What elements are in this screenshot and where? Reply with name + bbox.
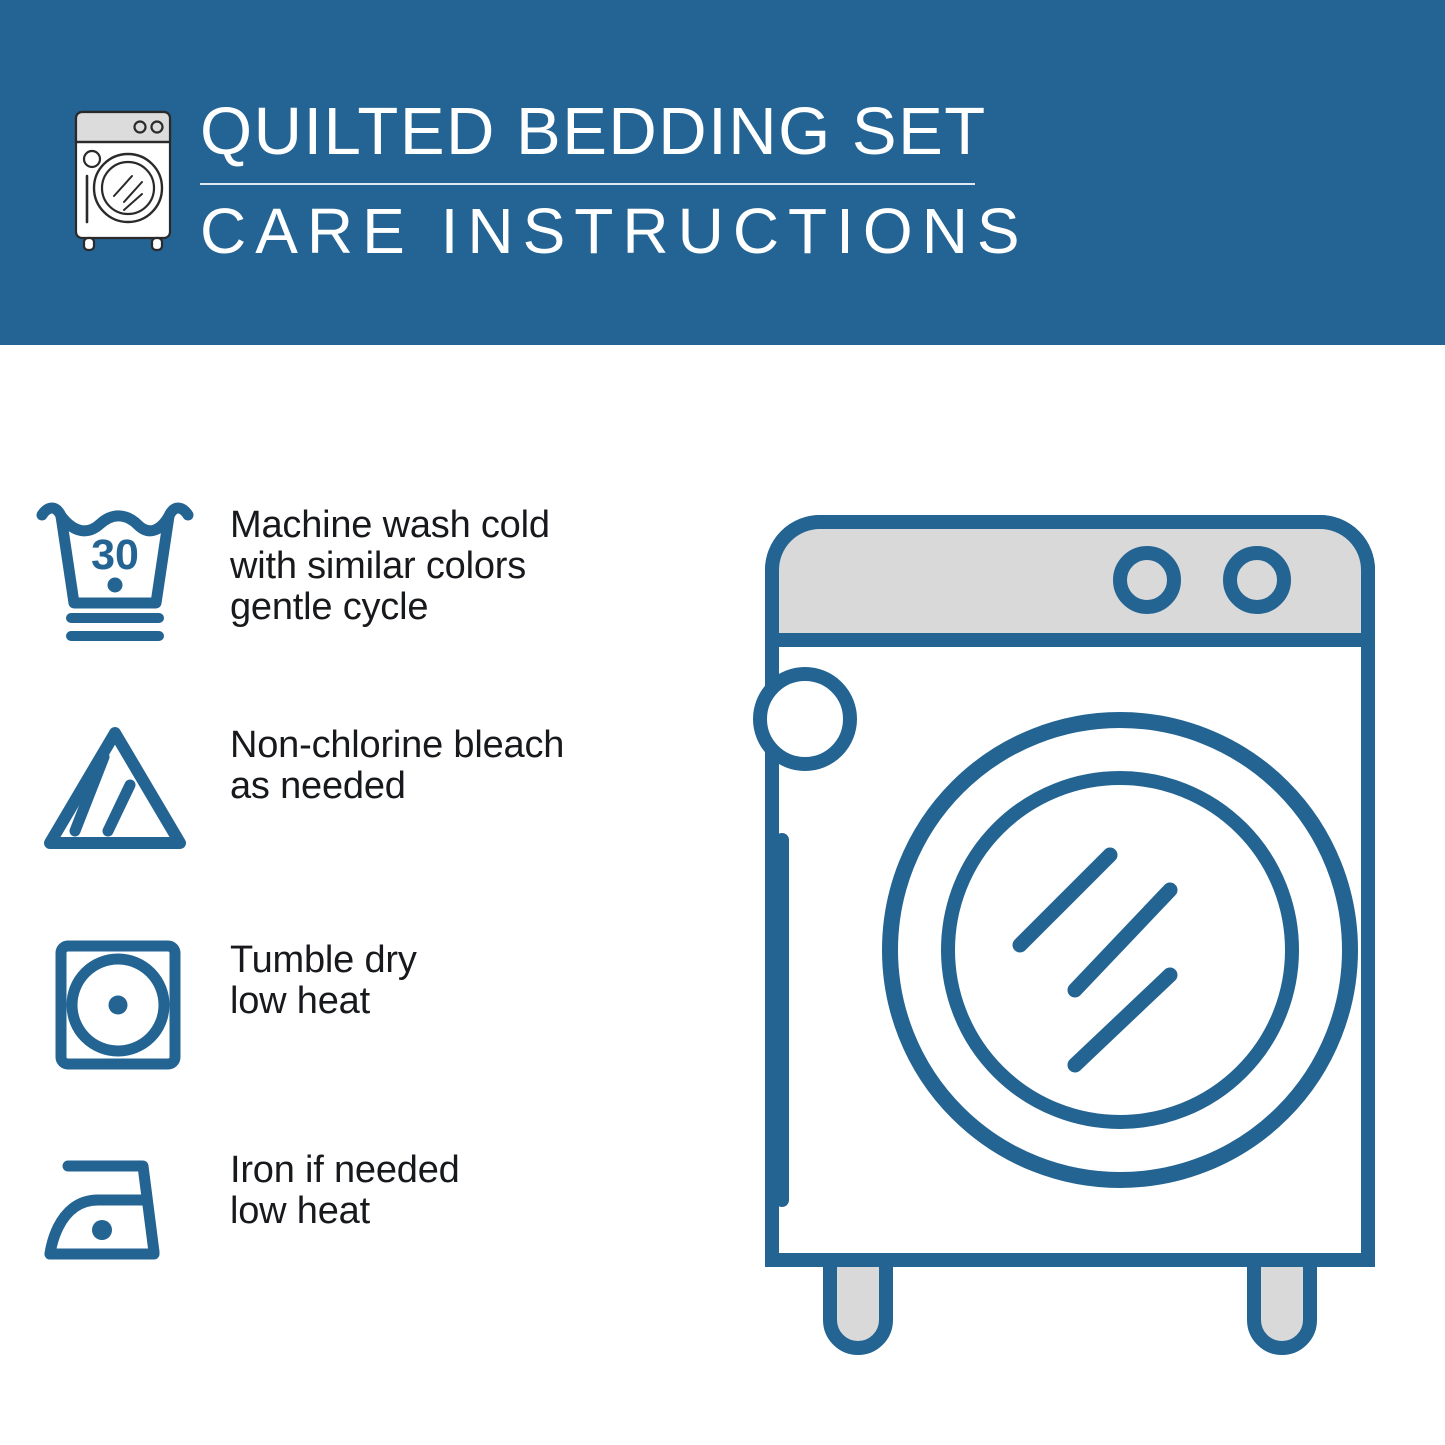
care-instruction-row: 30 Machine wash cold with similar colors… (0, 495, 700, 649)
page-subtitle: CARE INSTRUCTIONS (200, 195, 1100, 267)
care-instruction-row: Iron if needed low heat (0, 1140, 700, 1284)
page-title: QUILTED BEDDING SET (200, 95, 1100, 169)
iron-low-heat-icon (0, 1140, 230, 1284)
care-instruction-row: Tumble dry low heat (0, 930, 700, 1079)
leg-right (1254, 1260, 1310, 1348)
non-chlorine-bleach-triangle-icon (0, 715, 230, 859)
care-label-line: Iron if needed (230, 1150, 460, 1191)
care-instruction-list: 30 Machine wash cold with similar colors… (0, 345, 700, 1445)
header-banner: QUILTED BEDDING SET CARE INSTRUCTIONS (0, 0, 1445, 345)
care-label-line: low heat (230, 1191, 460, 1232)
wash-tub-30-icon: 30 (0, 495, 230, 649)
care-instruction-label: Iron if needed low heat (230, 1140, 460, 1232)
knob-left (1120, 553, 1174, 607)
washing-machine-icon (62, 104, 184, 252)
care-instruction-row: Non-chlorine bleach as needed (0, 715, 700, 859)
leg-left (830, 1260, 886, 1348)
care-label-line: gentle cycle (230, 587, 550, 628)
care-label-line: as needed (230, 766, 564, 807)
care-label-line: Non-chlorine bleach (230, 725, 564, 766)
tumble-dry-low-icon (0, 930, 230, 1079)
care-label-line: with similar colors (230, 546, 550, 587)
dispenser-button (760, 674, 850, 764)
care-label-line: low heat (230, 981, 417, 1022)
care-instructions-page: QUILTED BEDDING SET CARE INSTRUCTIONS 30 (0, 0, 1445, 1445)
wash-temperature-value: 30 (91, 531, 139, 579)
care-instruction-label: Machine wash cold with similar colors ge… (230, 495, 550, 628)
care-label-line: Machine wash cold (230, 505, 550, 546)
care-label-line: Tumble dry (230, 940, 417, 981)
front-load-washing-machine-illustration (720, 470, 1420, 1370)
care-instruction-label: Non-chlorine bleach as needed (230, 715, 564, 807)
header-divider (200, 183, 975, 185)
header-text-block: QUILTED BEDDING SET CARE INSTRUCTIONS (200, 95, 1100, 267)
knob-right (1230, 553, 1284, 607)
care-instruction-label: Tumble dry low heat (230, 930, 417, 1022)
